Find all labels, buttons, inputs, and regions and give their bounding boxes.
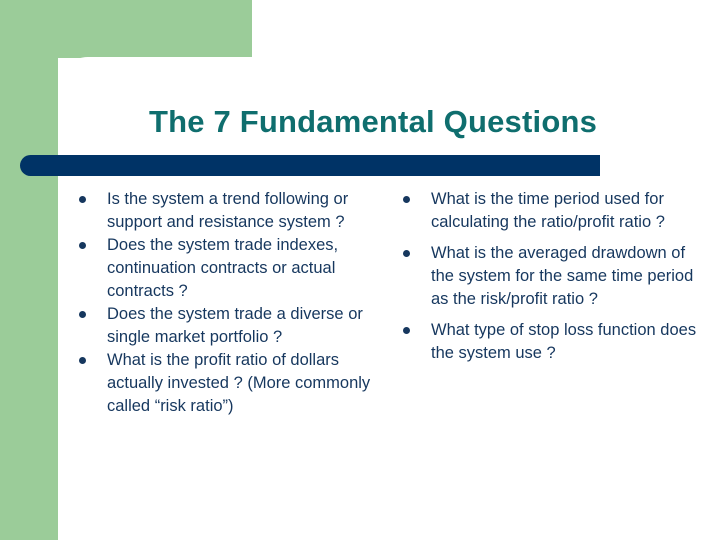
bullet-dot-icon [79, 242, 86, 249]
list-item: Is the system a trend following or suppo… [76, 188, 386, 234]
list-item-label: Is the system a trend following or suppo… [107, 188, 386, 234]
title-underline-bar [20, 155, 600, 176]
bullet-dot-icon [403, 327, 410, 334]
list-item-label: Does the system trade a diverse or singl… [107, 303, 386, 349]
bullet-dot-icon [79, 311, 86, 318]
list-item: What type of stop loss function does the… [400, 319, 700, 365]
slide-canvas: The 7 Fundamental Questions Is the syste… [0, 0, 720, 540]
list-item-label: What is the profit ratio of dollars actu… [107, 349, 386, 418]
page-title: The 7 Fundamental Questions [58, 104, 688, 140]
list-item-label: What is the time period used for calcula… [431, 188, 700, 234]
bullet-dot-icon [403, 250, 410, 257]
bullet-dot-icon [79, 196, 86, 203]
bullet-column-left: Is the system a trend following or suppo… [76, 188, 386, 418]
bullet-column-right: What is the time period used for calcula… [400, 188, 700, 373]
list-item: What is the averaged drawdown of the sys… [400, 242, 700, 311]
list-item: What is the time period used for calcula… [400, 188, 700, 234]
bullet-dot-icon [403, 196, 410, 203]
bullet-dot-icon [79, 357, 86, 364]
body-content: Is the system a trend following or suppo… [0, 188, 720, 518]
list-item: Does the system trade indexes, continuat… [76, 234, 386, 303]
list-item-label: Does the system trade indexes, continuat… [107, 234, 386, 303]
list-item-label: What type of stop loss function does the… [431, 319, 700, 365]
list-item: Does the system trade a diverse or singl… [76, 303, 386, 349]
list-item-label: What is the averaged drawdown of the sys… [431, 242, 700, 311]
list-item: What is the profit ratio of dollars actu… [76, 349, 386, 418]
